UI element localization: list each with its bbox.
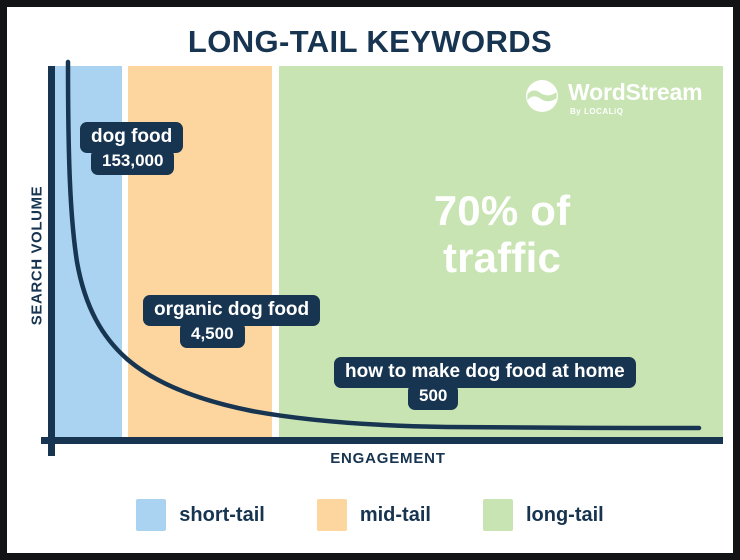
chart-plot-area: SEARCH VOLUME ENGAGEMENT 70% of traffic …	[7, 7, 733, 553]
infographic-frame: LONG-TAIL KEYWORDS SEARCH VOLUME ENGAGEM…	[0, 0, 740, 560]
legend-swatch-long-tail	[483, 499, 513, 531]
traffic-callout: 70% of traffic	[362, 187, 642, 281]
legend-item-short-tail: short-tail	[136, 499, 265, 531]
keyword-volume: 500	[408, 384, 458, 410]
legend-label-long-tail: long-tail	[526, 504, 604, 527]
brand-sub: By LOCALiQ	[570, 107, 702, 116]
legend-item-long-tail: long-tail	[483, 499, 604, 531]
legend-swatch-short-tail	[136, 499, 166, 531]
y-axis-label: SEARCH VOLUME	[29, 176, 46, 336]
keyword-name: how to make dog food at home	[334, 357, 636, 388]
brand-name: WordStream	[568, 81, 702, 104]
keyword-label-short-tail: dog food 153,000	[80, 122, 183, 175]
legend-item-mid-tail: mid-tail	[317, 499, 431, 531]
x-axis-label: ENGAGEMENT	[53, 450, 723, 467]
traffic-callout-line1: 70% of	[362, 187, 642, 234]
keyword-label-mid-tail: organic dog food 4,500	[143, 295, 320, 348]
legend: short-tail mid-tail long-tail	[7, 499, 733, 531]
brand-logo: WordStream By LOCALiQ	[525, 79, 702, 118]
wordstream-wave-logo-icon	[525, 79, 559, 118]
brand-text: WordStream By LOCALiQ	[568, 81, 702, 116]
legend-swatch-mid-tail	[317, 499, 347, 531]
infographic-canvas: LONG-TAIL KEYWORDS SEARCH VOLUME ENGAGEM…	[7, 7, 733, 553]
legend-label-mid-tail: mid-tail	[360, 504, 431, 527]
keyword-volume: 153,000	[91, 149, 174, 175]
traffic-callout-line2: traffic	[362, 234, 642, 281]
legend-label-short-tail: short-tail	[179, 504, 265, 527]
keyword-label-long-tail: how to make dog food at home 500	[334, 357, 636, 410]
keyword-volume: 4,500	[180, 322, 245, 348]
